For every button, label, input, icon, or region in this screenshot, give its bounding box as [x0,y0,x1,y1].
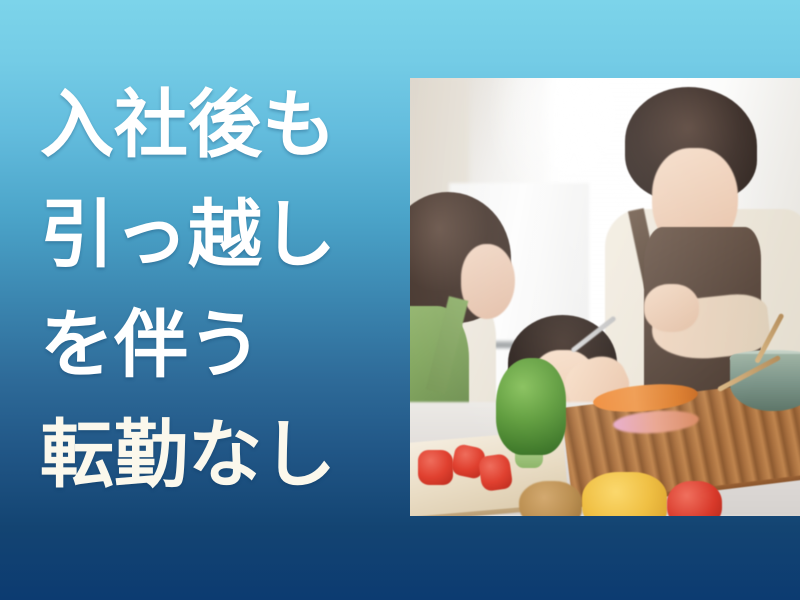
recruitment-banner: 入社後も 引っ越し を伴う 転勤なし [0,0,800,600]
headline-line-4: 転勤なし [40,400,390,510]
family-kitchen-photo [410,78,800,516]
photo-content [410,78,800,516]
yellow-bell-pepper [582,472,668,516]
headline-line-2: 引っ越し [40,180,390,290]
headline-block: 入社後も 引っ越し を伴う 転勤なし [40,70,390,510]
potato [519,481,581,516]
headline-line-1: 入社後も [40,70,390,180]
headline-line-3: を伴う [40,290,390,400]
broccoli [496,358,566,454]
father-hand [644,284,699,332]
apple [667,481,722,516]
tomato-slice-1 [418,450,453,485]
